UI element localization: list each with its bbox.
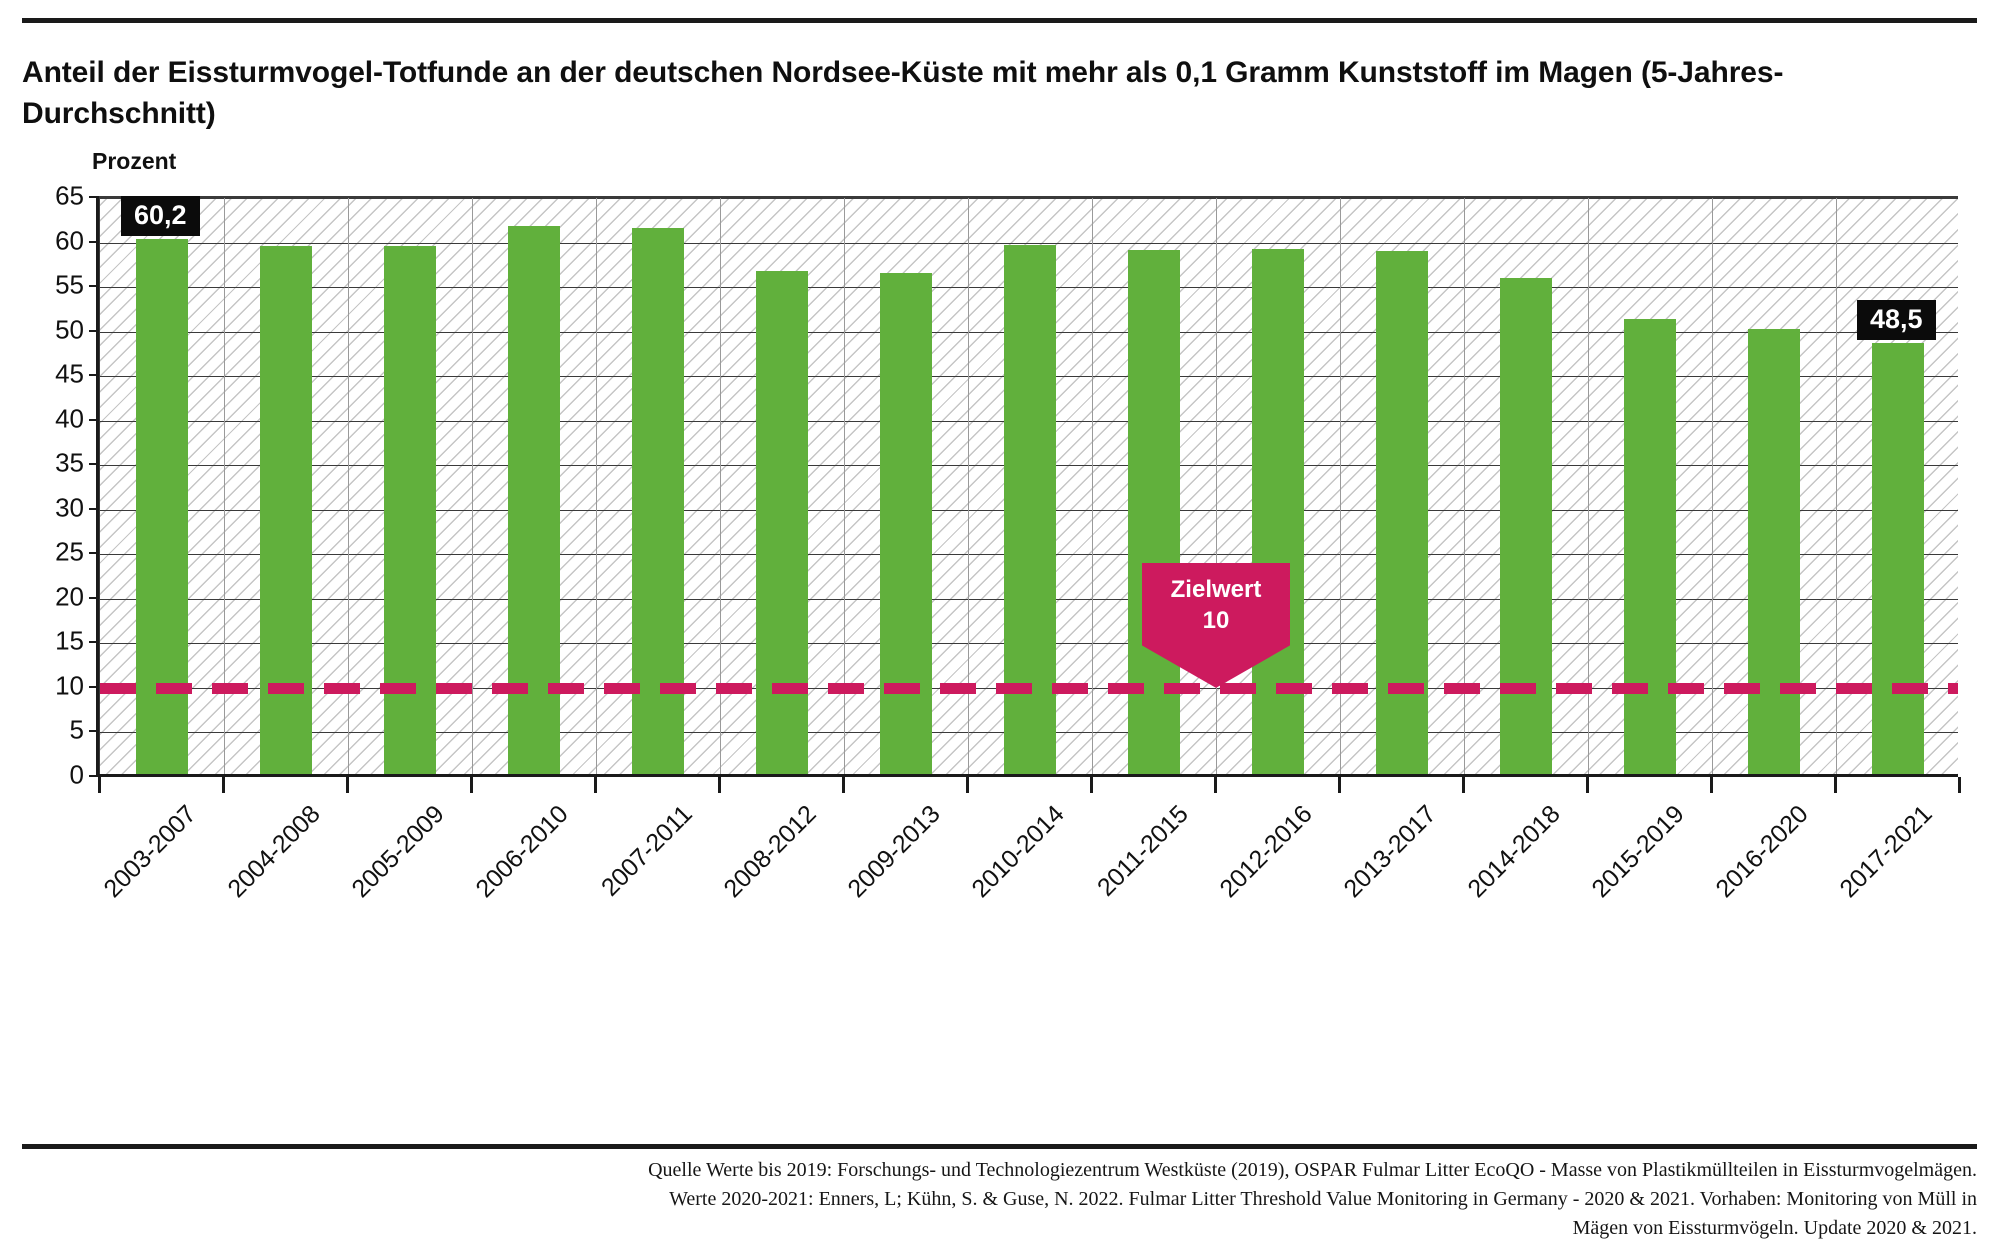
bar[interactable] (1252, 249, 1304, 775)
x-axis-tick-label: 2003-2007 (98, 800, 202, 904)
source-note: Quelle Werte bis 2019: Forschungs- und T… (420, 1156, 1977, 1243)
x-axis-tick-label: 2015-2019 (1586, 800, 1690, 904)
y-axis-tick-mark (89, 196, 98, 198)
y-axis-line (96, 196, 99, 777)
y-axis-tick-label: 40 (14, 403, 84, 434)
y-axis-tick-mark (89, 241, 98, 243)
target-badge-value: 10 (1142, 606, 1290, 637)
top-divider (22, 18, 1977, 23)
target-badge-label: Zielwert (1142, 575, 1290, 606)
bar[interactable] (1748, 329, 1800, 775)
x-axis-tick-mark (222, 777, 225, 793)
y-axis-tick-label: 10 (14, 670, 84, 701)
source-line-2: Werte 2020-2021: Enners, L; Kühn, S. & G… (420, 1185, 1977, 1214)
value-callout: 60,2 (121, 196, 200, 236)
bar[interactable] (136, 239, 188, 775)
y-axis-tick-label: 60 (14, 225, 84, 256)
y-axis-tick-mark (89, 374, 98, 376)
x-axis-tick-mark (1214, 777, 1217, 793)
value-callout: 48,5 (1857, 300, 1936, 340)
x-axis-tick-label: 2012-2016 (1214, 800, 1318, 904)
y-axis-tick-label: 5 (14, 715, 84, 746)
y-axis-tick-label: 15 (14, 626, 84, 657)
bar[interactable] (1624, 319, 1676, 775)
bar[interactable] (1376, 251, 1428, 775)
y-axis-tick-mark (89, 285, 98, 287)
x-axis-tick-label: 2008-2012 (718, 800, 822, 904)
bar[interactable] (880, 273, 932, 775)
x-axis-tick-mark (1090, 777, 1093, 793)
x-axis-tick-mark (842, 777, 845, 793)
y-axis-tick-mark (89, 463, 98, 465)
gridline-horizontal (100, 198, 1958, 199)
y-axis-unit-label: Prozent (92, 148, 176, 175)
y-axis-tick-mark (89, 419, 98, 421)
source-line-1: Quelle Werte bis 2019: Forschungs- und T… (420, 1156, 1977, 1185)
y-axis-tick-label: 25 (14, 537, 84, 568)
x-axis-tick-label: 2013-2017 (1338, 800, 1442, 904)
x-axis-tick-label: 2009-2013 (842, 800, 946, 904)
y-axis-tick-mark (89, 686, 98, 688)
x-axis-tick-label: 2017-2021 (1834, 800, 1938, 904)
bar[interactable] (260, 246, 312, 775)
y-axis-tick-mark (89, 730, 98, 732)
y-axis-tick-label: 45 (14, 359, 84, 390)
x-axis-tick-label: 2005-2009 (346, 800, 450, 904)
x-axis-tick-mark (1958, 777, 1961, 793)
bar[interactable] (1500, 278, 1552, 775)
x-axis-tick-mark (1338, 777, 1341, 793)
x-axis-tick-label: 2014-2018 (1462, 800, 1566, 904)
y-axis-tick-mark (89, 597, 98, 599)
source-line-3: Mägen von Eissturmvögeln. Update 2020 & … (420, 1214, 1977, 1243)
chart-title: Anteil der Eissturmvogel-Totfunde an der… (22, 52, 1902, 135)
y-axis-tick-mark (89, 330, 98, 332)
x-axis-tick-label: 2006-2010 (470, 800, 574, 904)
bar[interactable] (756, 271, 808, 775)
x-axis-tick-mark (594, 777, 597, 793)
y-axis-tick-label: 65 (14, 181, 84, 212)
y-axis-tick-mark (89, 775, 98, 777)
y-axis-tick-mark (89, 641, 98, 643)
y-axis-tick-label: 20 (14, 581, 84, 612)
x-axis-tick-mark (1586, 777, 1589, 793)
gridline-horizontal (100, 243, 1958, 244)
bar[interactable] (1128, 250, 1180, 775)
y-axis-tick-mark (89, 508, 98, 510)
target-threshold-line (100, 683, 1958, 694)
x-axis-tick-mark (98, 777, 101, 793)
x-axis-tick-label: 2010-2014 (966, 800, 1070, 904)
x-axis-tick-label: 2004-2008 (222, 800, 326, 904)
x-axis-tick-label: 2016-2020 (1710, 800, 1814, 904)
bar[interactable] (1872, 343, 1924, 775)
y-axis-tick-label: 0 (14, 760, 84, 791)
x-axis-line (98, 774, 1958, 777)
x-axis-tick-label: 2011-2015 (1092, 800, 1194, 902)
x-axis-tick-mark (346, 777, 349, 793)
x-axis-tick-mark (470, 777, 473, 793)
bottom-divider (22, 1144, 1977, 1149)
y-axis-tick-label: 30 (14, 492, 84, 523)
x-axis-tick-mark (966, 777, 969, 793)
y-axis-tick-label: 50 (14, 314, 84, 345)
y-axis-tick-mark (89, 552, 98, 554)
bar[interactable] (384, 246, 436, 775)
x-axis-tick-mark (1710, 777, 1713, 793)
plot-area: Zielwert10 (98, 196, 1958, 775)
x-axis-tick-label: 2007-2011 (596, 800, 698, 902)
x-axis-tick-mark (1834, 777, 1837, 793)
y-axis-tick-label: 55 (14, 270, 84, 301)
x-axis-tick-mark (718, 777, 721, 793)
y-axis-tick-label: 35 (14, 448, 84, 479)
bar[interactable] (1004, 245, 1056, 775)
x-axis-tick-mark (1462, 777, 1465, 793)
